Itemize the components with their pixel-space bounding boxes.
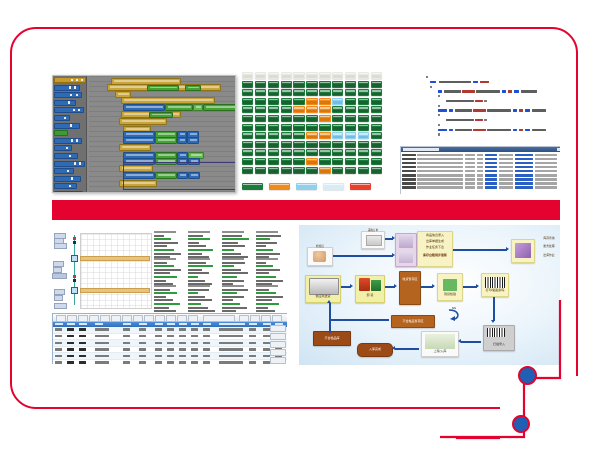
accent-dot-upper	[518, 366, 537, 385]
accent-dot-lower	[512, 415, 530, 433]
connector-line	[0, 0, 600, 450]
